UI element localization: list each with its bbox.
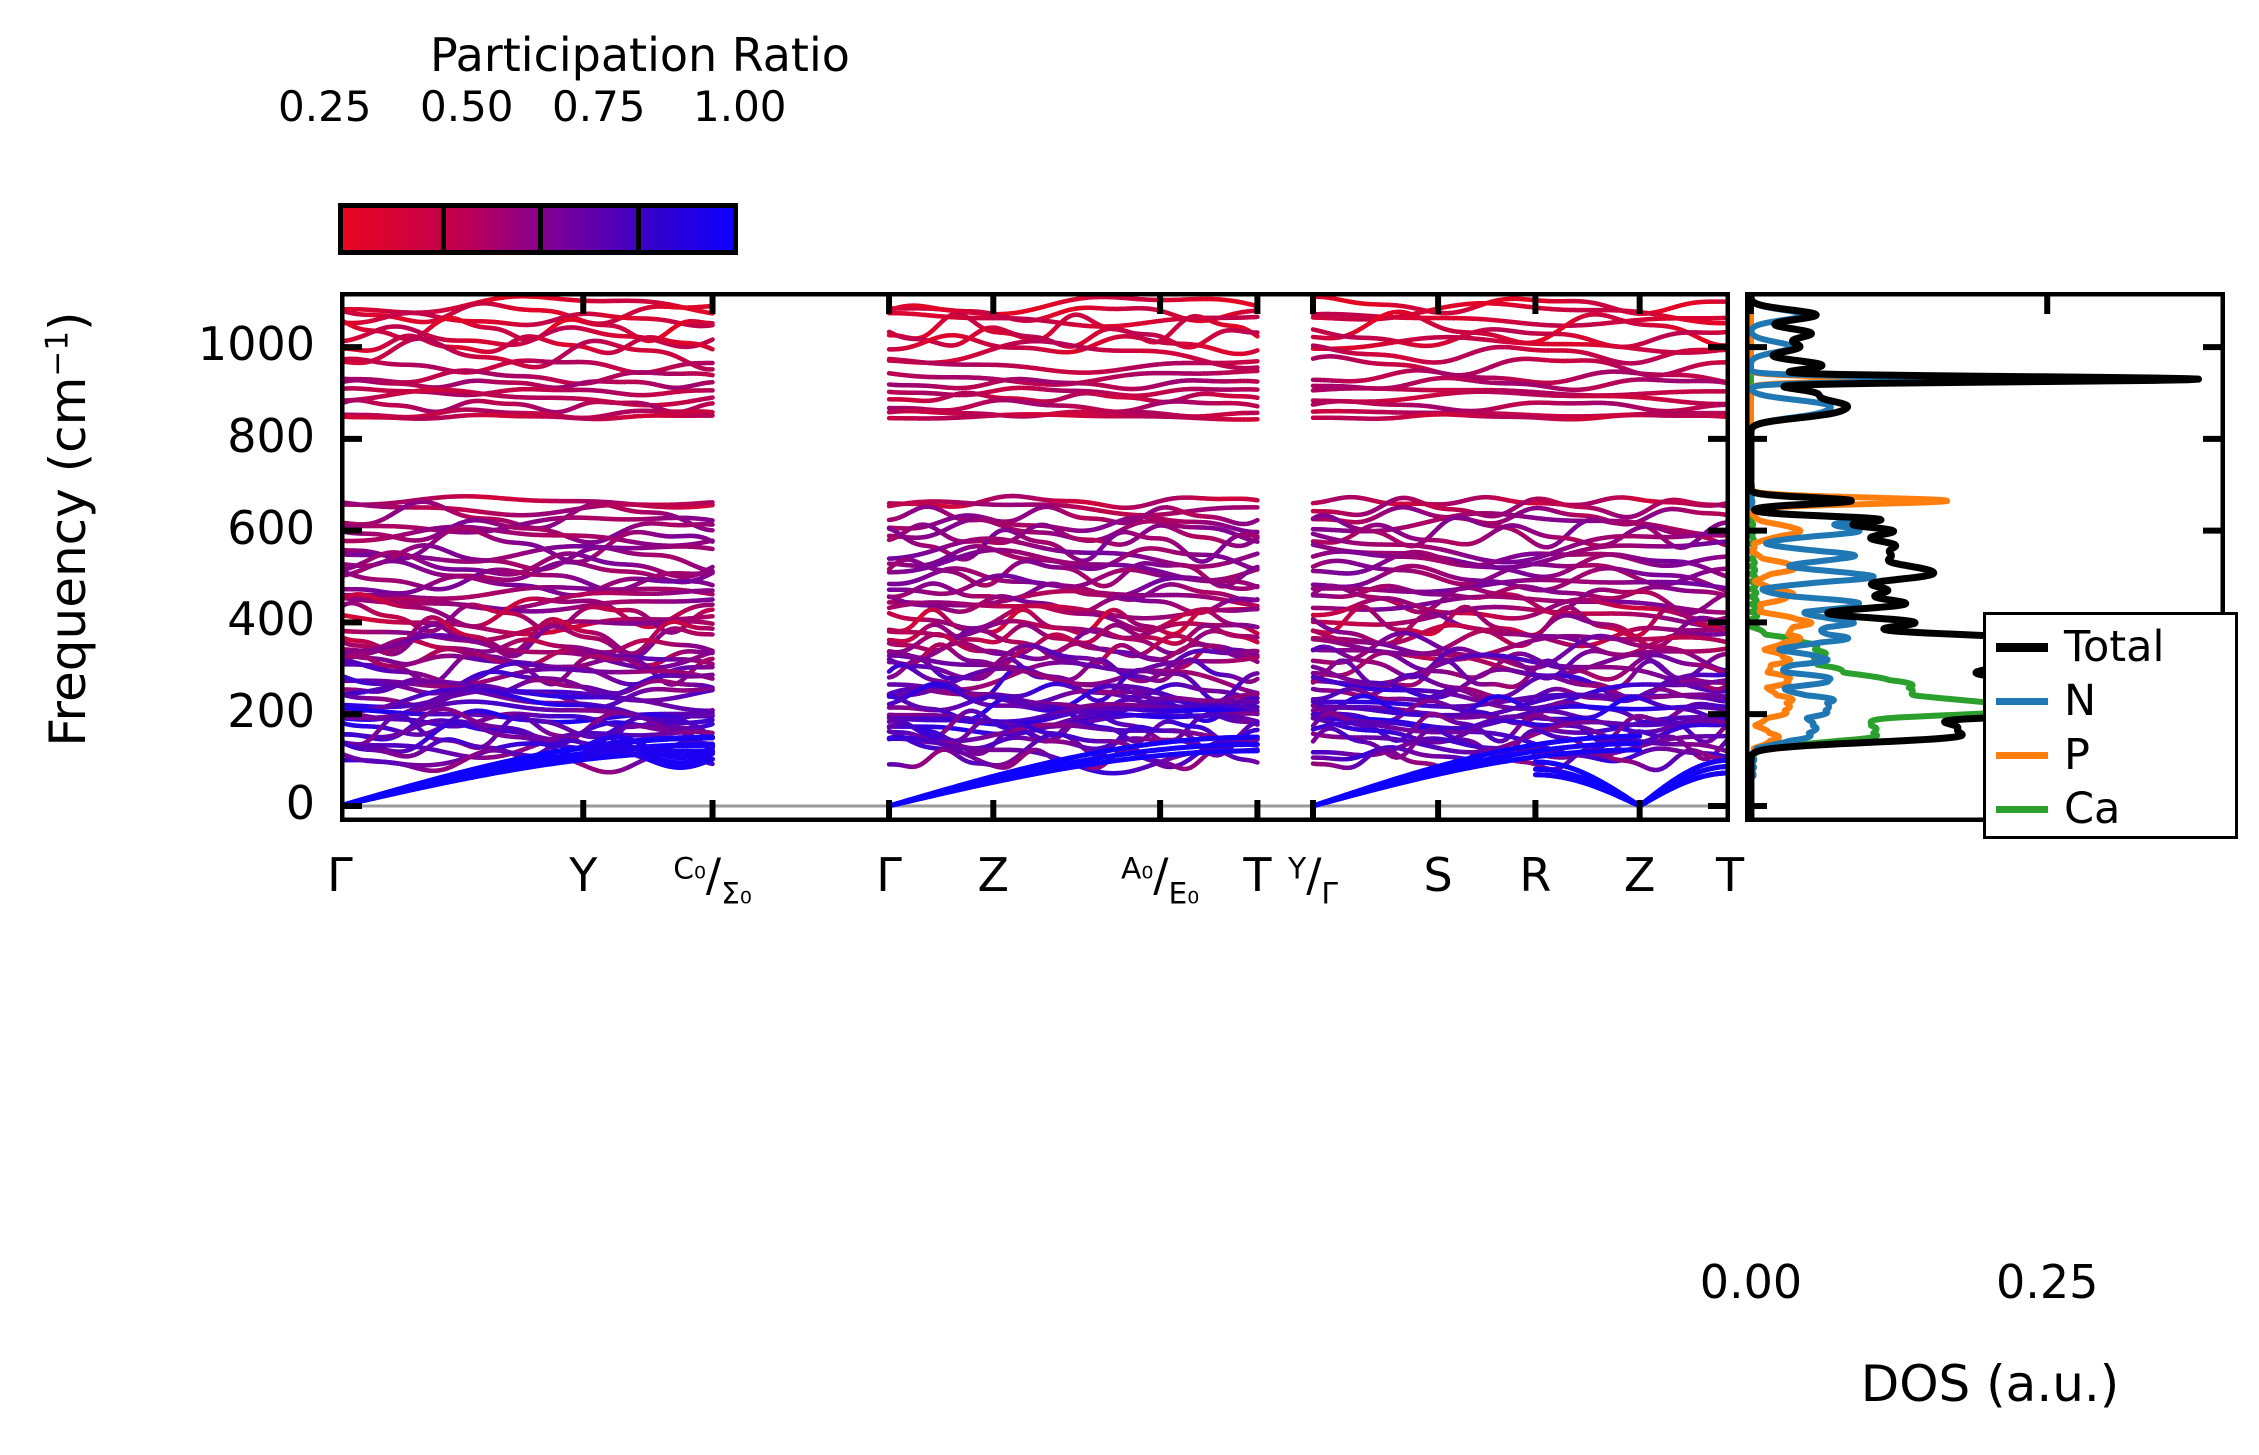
legend-label-n: N <box>2064 680 2096 723</box>
legend-label-p: P <box>2064 734 2090 777</box>
legend-item-n: N <box>1996 675 2096 727</box>
dos-tick-0: 0.00 <box>1651 1255 1851 1309</box>
legend-item-ca: Ca <box>1996 783 2120 835</box>
participation-ratio-colorbar <box>338 203 738 255</box>
colorbar-divider-2 <box>538 208 543 250</box>
legend-label-ca: Ca <box>2064 788 2120 831</box>
phonon-band-structure-plot <box>340 292 1730 822</box>
colorbar-divider-3 <box>636 208 641 250</box>
figure-canvas: Participation Ratio 0.25 0.50 0.75 1.00 … <box>0 0 2259 1455</box>
frequency-tick-0: 0 <box>125 776 315 830</box>
colorbar-tick-label-4: 1.00 <box>693 82 787 131</box>
frequency-tick-800: 800 <box>125 409 315 463</box>
legend-swatch-total <box>1996 643 2048 652</box>
colorbar-title: Participation Ratio <box>430 28 850 82</box>
ktick-11: T <box>1630 848 1830 902</box>
dos-axis-label: DOS (a.u.) <box>1760 1355 2220 1413</box>
legend-item-total: Total <box>1996 621 2164 673</box>
frequency-tick-400: 400 <box>125 592 315 646</box>
frequency-tick-600: 600 <box>125 501 315 555</box>
ktick-0: Γ <box>240 848 440 902</box>
dos-tick-1: 0.25 <box>1947 1255 2147 1309</box>
frequency-tick-200: 200 <box>125 684 315 738</box>
ktick-2: C₀/Σ₀ <box>613 848 813 911</box>
legend-label-total: Total <box>2064 626 2164 669</box>
frequency-axis-label: Frequency (cm−1) <box>39 229 97 829</box>
dos-legend: TotalNPCa <box>1983 612 2238 839</box>
legend-swatch-n <box>1996 698 2048 705</box>
colorbar-tick-label-1: 0.25 <box>278 82 372 131</box>
colorbar-divider-1 <box>441 208 446 250</box>
legend-swatch-p <box>1996 752 2048 759</box>
legend-swatch-ca <box>1996 806 2048 813</box>
colorbar-tick-label-3: 0.75 <box>552 82 646 131</box>
frequency-tick-1000: 1000 <box>125 317 315 371</box>
colorbar-tick-label-2: 0.50 <box>420 82 514 131</box>
legend-item-p: P <box>1996 729 2090 781</box>
